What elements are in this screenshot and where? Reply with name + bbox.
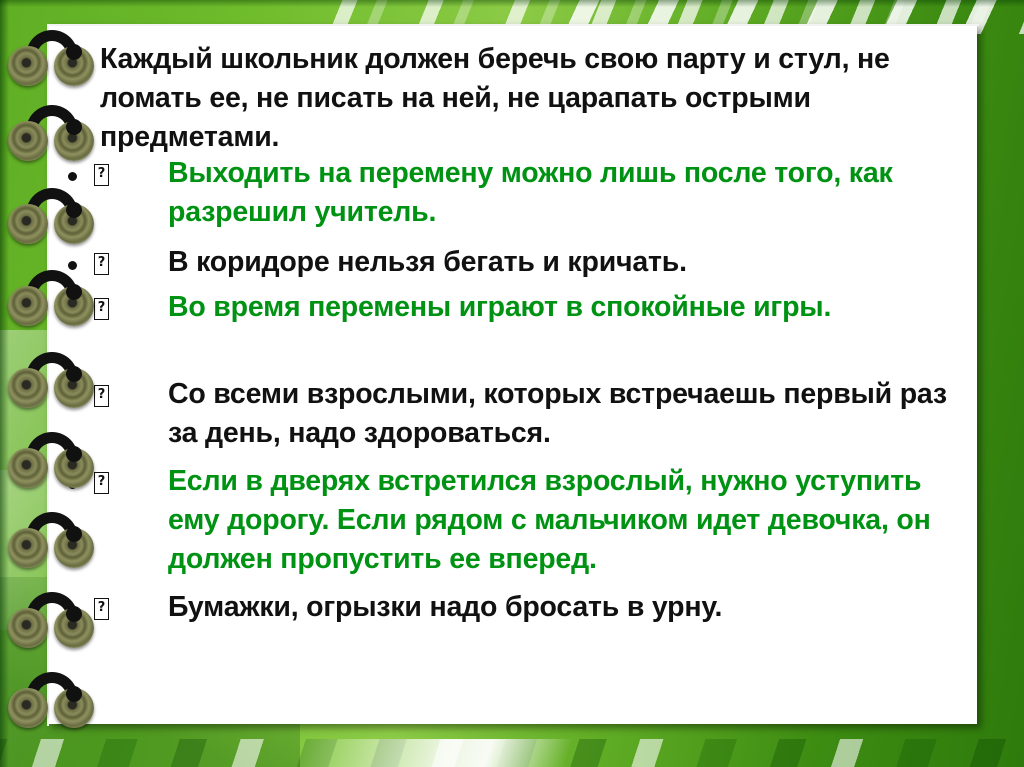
binding-ring-knob: [66, 606, 82, 622]
tofu-glyph-1: ?: [94, 164, 109, 186]
binding-ring-knob: [66, 686, 82, 702]
slide-text-content: Каждый школьник должен беречь свою парту…: [60, 28, 972, 718]
binding-ring-disc-left: [8, 608, 48, 648]
binding-ring-disc-left: [8, 448, 48, 488]
binding-ring-knob: [66, 526, 82, 542]
frame-diagonal-stripes-bottom-highlight: [300, 739, 640, 767]
binding-ring-disc-left: [8, 286, 48, 326]
binding-ring-knob: [66, 202, 82, 218]
intro-paragraph: Каждый школьник должен беречь свою парту…: [100, 40, 968, 157]
binding-ring: [8, 270, 94, 326]
binding-ring-disc-left: [8, 204, 48, 244]
binding-ring-disc-left: [8, 688, 48, 728]
binding-ring-knob: [66, 119, 82, 135]
bullet-marker-1: [68, 172, 77, 181]
binding-ring: [8, 30, 94, 86]
slide-canvas: Каждый школьник должен беречь свою парту…: [0, 0, 1024, 767]
tofu-glyph-2: ?: [94, 253, 109, 275]
tofu-glyph-4: ?: [94, 385, 109, 407]
binding-ring-disc-left: [8, 528, 48, 568]
binding-ring-knob: [66, 446, 82, 462]
binding-ring: [8, 512, 94, 568]
bullet-marker-2: [68, 261, 77, 270]
tofu-glyph-5: ?: [94, 472, 109, 494]
bullet-text-3: Во время перемены играют в спокойные игр…: [168, 288, 958, 327]
binding-ring-disc-left: [8, 368, 48, 408]
binding-ring: [8, 592, 94, 648]
binding-ring-knob: [66, 366, 82, 382]
bullet-text-4: Со всеми взрослыми, которых встречаешь п…: [168, 375, 968, 453]
binding-ring-knob: [66, 284, 82, 300]
binding-ring: [8, 672, 94, 728]
bullet-text-1: Выходить на перемену можно лишь после то…: [168, 154, 968, 232]
binding-ring-disc-left: [8, 121, 48, 161]
binding-ring: [8, 352, 94, 408]
bullet-text-2: В коридоре нельзя бегать и кричать.: [168, 243, 968, 282]
tofu-glyph-6: ?: [94, 598, 109, 620]
frame-edge-top: [0, 0, 1024, 7]
binding-ring-disc-left: [8, 46, 48, 86]
tofu-glyph-3: ?: [94, 298, 109, 320]
binding-ring: [8, 105, 94, 161]
binding-ring: [8, 188, 94, 244]
bullet-text-5: Если в дверях встретился взрослый, нужно…: [168, 462, 970, 579]
binding-ring: [8, 432, 94, 488]
binding-ring-knob: [66, 44, 82, 60]
bullet-text-6: Бумажки, огрызки надо бросать в урну.: [168, 588, 968, 627]
